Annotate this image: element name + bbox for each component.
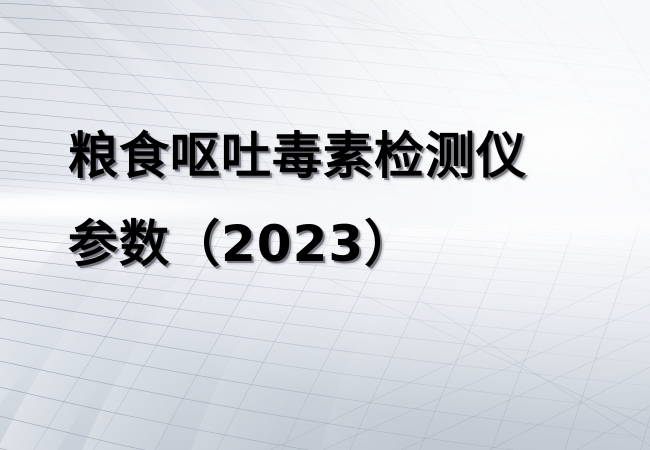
title-line-1: 粮食呕吐毒素检测仪: [68, 112, 588, 200]
title-line-2: 参数（2023）: [68, 200, 588, 288]
title-banner: 粮食呕吐毒素检测仪 参数（2023）: [0, 0, 650, 450]
banner-title: 粮食呕吐毒素检测仪 参数（2023）: [68, 112, 588, 288]
